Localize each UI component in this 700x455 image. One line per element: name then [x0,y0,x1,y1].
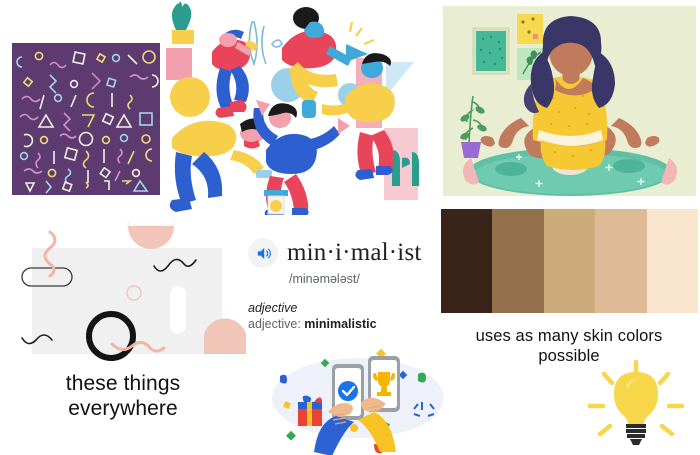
dictionary-entry: min·i·mal·ist /minəmələst/ adjective adj… [248,238,438,343]
skin-tone-palette [441,209,698,313]
palette-swatch-tan [544,209,595,313]
dancing-people-illustration [160,0,440,215]
mood-board: min·i·mal·ist /minəmələst/ adjective adj… [0,0,700,455]
lightbulb-illustration [586,358,686,450]
caption-these-things-everywhere: these things everywhere [6,372,240,422]
dictionary-word: min·i·mal·ist [287,239,422,267]
dictionary-synonym-line: adjective: minimalistic [248,317,438,331]
speaker-icon[interactable] [248,238,278,268]
memphis-pattern-panel [12,43,164,195]
meditating-woman-illustration [443,6,696,196]
dictionary-part-of-speech: adjective [248,301,438,315]
hands-with-phones-illustration [262,346,452,455]
synonym-label: adjective: [248,317,301,331]
dictionary-phonetic: /minəmələst/ [289,272,438,286]
abstract-shapes-illustration [8,222,246,362]
palette-swatch-deep-brown [441,209,492,313]
synonym-value: minimalistic [304,317,376,331]
palette-swatch-cream [647,209,698,313]
palette-swatch-light-tan [595,209,646,313]
dictionary-headword-row: min·i·mal·ist [248,238,438,268]
palette-swatch-medium-brown [492,209,543,313]
